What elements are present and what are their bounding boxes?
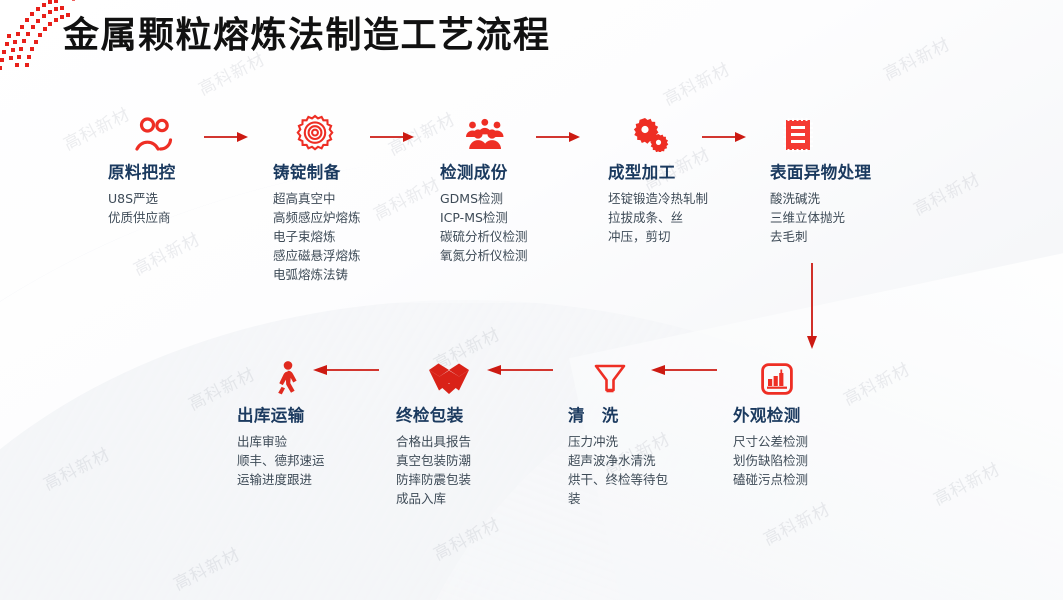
funnel-icon: [593, 355, 676, 395]
watermark: 高科新材: [368, 170, 444, 225]
gear-concentric-icon: [295, 112, 361, 152]
step-detail-list: 尺寸公差检测 划伤缺陷检测 磕碰污点检测: [733, 432, 808, 489]
step-detail-line: 氧氮分析仪检测: [440, 246, 528, 265]
step-detail-list: 合格出具报告 真空包装防潮 防摔防震包装 成品入库: [396, 432, 471, 508]
step-title: 成型加工: [608, 159, 708, 183]
arrow-5-down: [805, 263, 819, 349]
step-detail-line: 去毛刺: [770, 227, 871, 246]
step-detail-line: 尺寸公差检测: [733, 432, 808, 451]
step-detail-line: 运输进度跟进: [237, 470, 325, 489]
watermark: 高科新材: [838, 355, 914, 410]
step-title: 出库运输: [237, 402, 325, 426]
step-ingot-preparation[interactable]: 铸锭制备 超高真空中 高频感应炉熔炼 电子束熔炼 感应磁悬浮熔炼 电弧熔炼法铸: [273, 112, 361, 284]
double-gears-icon: [631, 112, 708, 152]
step-title: 终检包装: [396, 402, 471, 426]
arrow-3-right: [536, 131, 580, 145]
step-detail-list: 酸洗碱洗 三维立体抛光 去毛刺: [770, 189, 871, 246]
slide-canvas: 高科新材 高科新材 高科新材 高科新材 高科新材 高科新材 高科新材 高科新材 …: [0, 0, 1063, 600]
open-box-icon: [429, 355, 471, 395]
step-detail-list: 坯锭锻造冷热轧制 拉拔成条、丝 冲压，剪切: [608, 189, 708, 246]
step-final-inspection-packaging[interactable]: 终检包装 合格出具报告 真空包装防潮 防摔防震包装 成品入库: [396, 355, 471, 508]
title-bar: 金属颗粒熔炼法制造工艺流程: [0, 0, 1063, 72]
step-detail-list: U8S严选 优质供应商: [108, 189, 176, 227]
step-detail-line: 压力冲洗: [568, 432, 676, 451]
step-detail-line: 酸洗碱洗: [770, 189, 871, 208]
step-raw-material-control[interactable]: 原料把控 U8S严选 优质供应商: [108, 112, 176, 227]
user-group-icon: [464, 112, 528, 152]
step-forming-processing[interactable]: 成型加工 坯锭锻造冷热轧制 拉拔成条、丝 冲压，剪切: [608, 112, 708, 246]
step-detail-line: 电子束熔炼: [273, 227, 361, 246]
step-appearance-inspection[interactable]: 外观检测 尺寸公差检测 划伤缺陷检测 磕碰污点检测: [733, 355, 808, 489]
step-cleaning[interactable]: 清 洗 压力冲洗 超声波净水清洗 烘干、终检等待包装: [568, 355, 676, 508]
step-detail-line: 超高真空中: [273, 189, 361, 208]
step-detail-line: 真空包装防潮: [396, 451, 471, 470]
step-detail-line: 碳硫分析仪检测: [440, 227, 528, 246]
step-detail-line: 坯锭锻造冷热轧制: [608, 189, 708, 208]
step-title: 铸锭制备: [273, 159, 361, 183]
step-detail-line: 优质供应商: [108, 208, 176, 227]
step-surface-foreign-matter-treatment[interactable]: 表面异物处理 酸洗碱洗 三维立体抛光 去毛刺: [770, 112, 871, 246]
step-detail-list: 压力冲洗 超声波净水清洗 烘干、终检等待包装: [568, 432, 676, 508]
step-title: 检测成份: [440, 159, 528, 183]
step-detail-line: 感应磁悬浮熔炼: [273, 246, 361, 265]
step-detail-line: 超声波净水清洗: [568, 451, 676, 470]
arrow-4-right: [702, 131, 746, 145]
step-title: 表面异物处理: [770, 159, 871, 183]
step-title: 原料把控: [108, 159, 176, 183]
step-detail-list: 出库审验 顺丰、德邦速运 运输进度跟进: [237, 432, 325, 489]
step-detail-line: 磕碰污点检测: [733, 470, 808, 489]
arrow-1-right: [204, 131, 248, 145]
step-detail-line: 三维立体抛光: [770, 208, 871, 227]
page-title: 金属颗粒熔炼法制造工艺流程: [63, 6, 551, 58]
arrow-2-right: [370, 131, 414, 145]
step-title: 外观检测: [733, 402, 808, 426]
watermark: 高科新材: [758, 495, 834, 550]
watermark: 高科新材: [428, 510, 504, 565]
step-detail-line: 防摔防震包装: [396, 470, 471, 489]
step-detail-line: 拉拔成条、丝: [608, 208, 708, 227]
step-detail-line: 电弧熔炼法铸: [273, 265, 361, 284]
step-detail-line: 冲压，剪切: [608, 227, 708, 246]
step-detail-line: 成品入库: [396, 489, 471, 508]
step-detail-line: 划伤缺陷检测: [733, 451, 808, 470]
background-decoration: [0, 0, 1063, 600]
watermark: 高科新材: [908, 165, 984, 220]
step-detail-line: 出库审验: [237, 432, 325, 451]
watermark: 高科新材: [168, 540, 244, 595]
step-detail-line: GDMS检测: [440, 189, 528, 208]
step-detail-line: 合格出具报告: [396, 432, 471, 451]
step-detail-list: 超高真空中 高频感应炉熔炼 电子束熔炼 感应磁悬浮熔炼 电弧熔炼法铸: [273, 189, 361, 284]
background-swoosh-right: [380, 330, 1063, 600]
factory-frame-icon: [761, 355, 808, 395]
step-detail-line: ICP-MS检测: [440, 208, 528, 227]
step-detail-line: U8S严选: [108, 189, 176, 208]
document-lines-icon: [783, 112, 871, 152]
background-swoosh-left: [0, 300, 1063, 600]
step-title: 清 洗: [568, 402, 676, 426]
watermark: 高科新材: [128, 225, 204, 280]
two-users-icon: [134, 112, 176, 152]
watermark: 高科新材: [928, 455, 1004, 510]
arrow-7-left: [487, 364, 553, 378]
step-detail-line: 烘干、终检等待包装: [568, 470, 676, 508]
step-composition-inspection[interactable]: 检测成份 GDMS检测 ICP-MS检测 碳硫分析仪检测 氧氮分析仪检测: [440, 112, 528, 265]
step-detail-list: GDMS检测 ICP-MS检测 碳硫分析仪检测 氧氮分析仪检测: [440, 189, 528, 265]
step-detail-line: 高频感应炉熔炼: [273, 208, 361, 227]
walking-person-icon: [273, 355, 325, 395]
step-outbound-transport[interactable]: 出库运输 出库审验 顺丰、德邦速运 运输进度跟进: [237, 355, 325, 489]
step-detail-line: 顺丰、德邦速运: [237, 451, 325, 470]
watermark: 高科新材: [38, 440, 114, 495]
